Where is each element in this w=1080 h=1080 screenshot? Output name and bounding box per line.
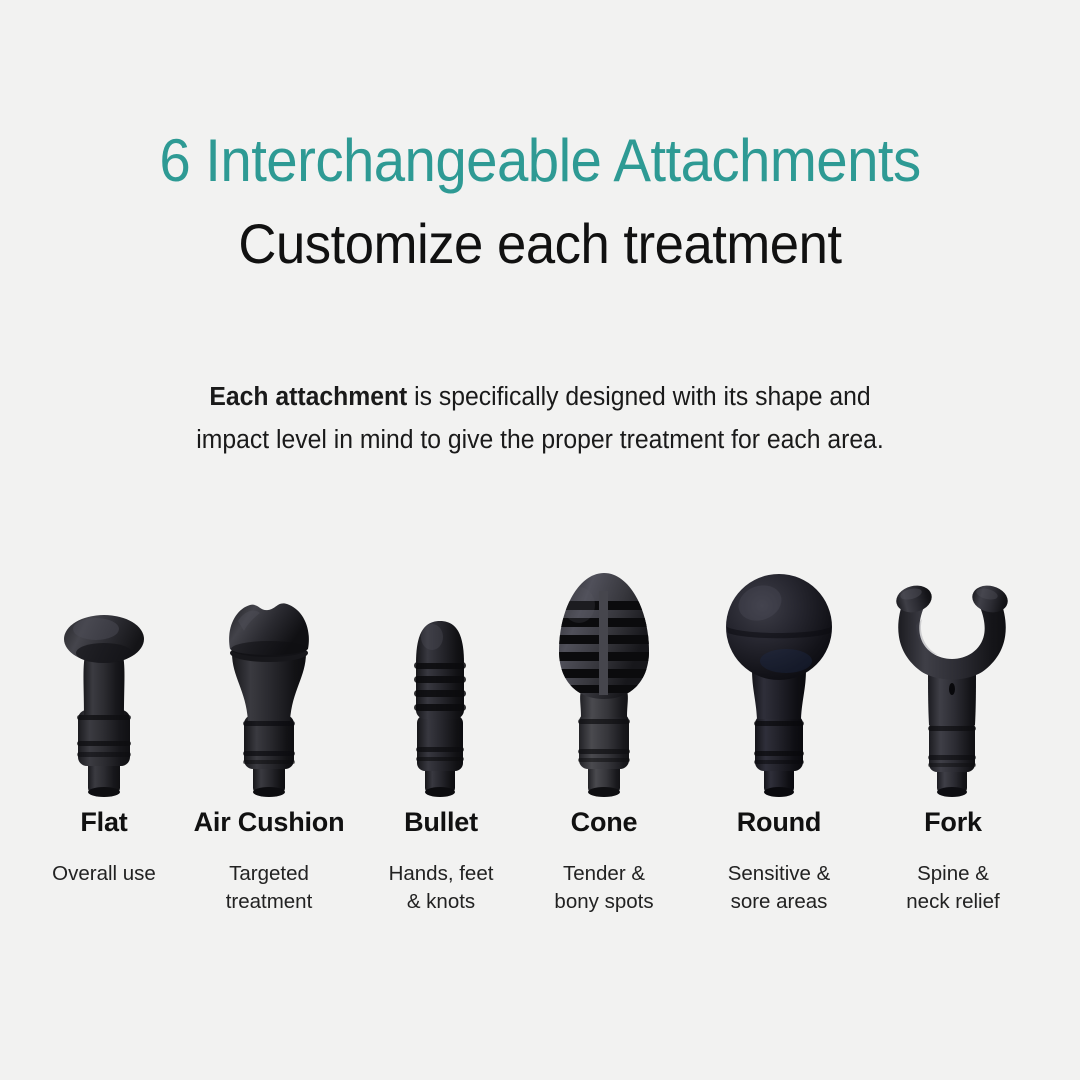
caption-desc-line: Targeted bbox=[174, 860, 364, 888]
fork-head-icon bbox=[878, 565, 1028, 800]
round-head-icon bbox=[714, 565, 844, 800]
caption-title-cone: Cone bbox=[509, 805, 699, 839]
caption-round: Round Sensitive & sore areas bbox=[684, 805, 874, 916]
body-description: Each attachment is specifically designed… bbox=[191, 376, 889, 462]
caption-desc-line: treatment bbox=[174, 888, 364, 916]
caption-desc-line: & knots bbox=[346, 888, 536, 916]
caption-title-air-cushion: Air Cushion bbox=[174, 805, 364, 839]
caption-title-flat: Flat bbox=[9, 805, 199, 839]
caption-title-fork: Fork bbox=[858, 805, 1048, 839]
attachment-item-round[interactable] bbox=[694, 560, 864, 800]
page-subtitle: Customize each treatment bbox=[32, 216, 1047, 272]
caption-desc-fork: Spine & neck relief bbox=[858, 860, 1048, 916]
page-title: 6 Interchangeable Attachments bbox=[32, 131, 1047, 191]
caption-desc-line: Overall use bbox=[9, 860, 199, 888]
caption-air-cushion: Air Cushion Targeted treatment bbox=[174, 805, 364, 916]
flat-head-icon bbox=[44, 565, 164, 800]
attachment-item-air-cushion[interactable] bbox=[184, 560, 354, 800]
caption-desc-line: Spine & bbox=[858, 860, 1048, 888]
caption-desc-line: Sensitive & bbox=[684, 860, 874, 888]
bullet-head-icon bbox=[391, 565, 491, 800]
caption-flat: Flat Overall use bbox=[9, 805, 199, 888]
air-cushion-head-icon bbox=[204, 565, 334, 800]
caption-desc-flat: Overall use bbox=[9, 860, 199, 888]
infographic-page: 6 Interchangeable Attachments Customize … bbox=[0, 0, 1080, 1080]
caption-title-round: Round bbox=[684, 805, 874, 839]
cone-head-icon bbox=[539, 565, 669, 800]
caption-desc-bullet: Hands, feet & knots bbox=[346, 860, 536, 916]
body-lead-bold: Each attachment bbox=[209, 383, 407, 411]
caption-desc-round: Sensitive & sore areas bbox=[684, 860, 874, 916]
caption-desc-cone: Tender & bony spots bbox=[509, 860, 699, 916]
caption-desc-line: Hands, feet bbox=[346, 860, 536, 888]
caption-desc-line: bony spots bbox=[509, 888, 699, 916]
caption-title-bullet: Bullet bbox=[346, 805, 536, 839]
caption-desc-line: neck relief bbox=[858, 888, 1048, 916]
caption-desc-line: Tender & bbox=[509, 860, 699, 888]
attachment-item-flat[interactable] bbox=[19, 560, 189, 800]
caption-desc-air-cushion: Targeted treatment bbox=[174, 860, 364, 916]
caption-bullet: Bullet Hands, feet & knots bbox=[346, 805, 536, 916]
caption-cone: Cone Tender & bony spots bbox=[509, 805, 699, 916]
caption-fork: Fork Spine & neck relief bbox=[858, 805, 1048, 916]
attachment-gallery bbox=[0, 560, 1080, 800]
caption-desc-line: sore areas bbox=[684, 888, 874, 916]
attachment-item-bullet[interactable] bbox=[356, 560, 526, 800]
attachment-item-cone[interactable] bbox=[519, 560, 689, 800]
attachment-item-fork[interactable] bbox=[868, 560, 1038, 800]
